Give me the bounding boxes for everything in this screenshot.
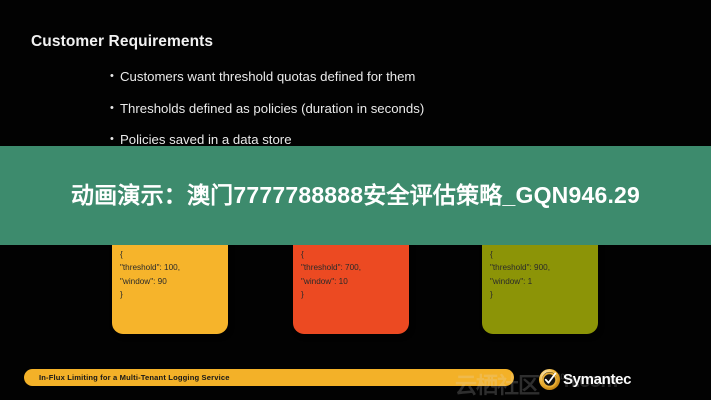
symantec-wordmark: Symantec xyxy=(563,372,631,387)
page-title: Customer Requirements xyxy=(31,33,213,51)
bullet-dot-icon: • xyxy=(110,102,120,116)
symantec-brand-mark: Symantec xyxy=(539,368,631,390)
tenant-policy-json: { "threshold": 100, "window": 90 } xyxy=(112,245,228,301)
slide-canvas: Customer Requirements • Customers want t… xyxy=(0,0,711,400)
list-item: • Customers want threshold quotas define… xyxy=(110,70,630,85)
slide-caption-pill: In-Flux Limiting for a Multi-Tenant Logg… xyxy=(24,369,514,386)
tenant-policy-json: { "threshold": 700, "window": 10 } xyxy=(293,245,409,301)
overlay-headline: 动画演示：澳门7777788888安全评估策略_GQN946.29 xyxy=(36,180,676,210)
slide-caption-label: In-Flux Limiting for a Multi-Tenant Logg… xyxy=(39,373,230,382)
list-item-label: Thresholds defined as policies (duration… xyxy=(120,102,630,117)
overlay-banner: 动画演示：澳门7777788888安全评估策略_GQN946.29 xyxy=(0,146,711,245)
watermark-site-name: 云栖社区 xyxy=(455,368,539,400)
bullet-dot-icon: • xyxy=(110,70,120,84)
check-shield-icon xyxy=(539,369,560,390)
bullet-dot-icon: • xyxy=(110,133,120,147)
tenant-policy-json: { "threshold": 900, "window": 1 } xyxy=(482,245,598,301)
list-item-label: Customers want threshold quotas defined … xyxy=(120,70,630,85)
list-item: • Thresholds defined as policies (durati… xyxy=(110,102,630,117)
